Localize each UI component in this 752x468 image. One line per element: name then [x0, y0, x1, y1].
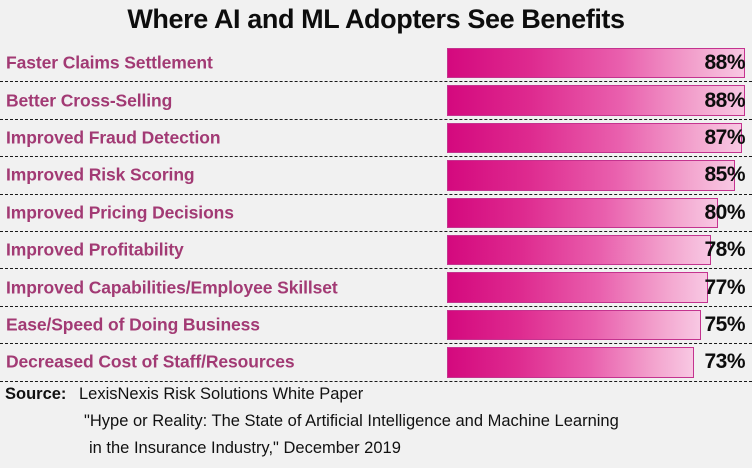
- bar-track: 88%: [447, 48, 745, 78]
- bar-value-label: 75%: [704, 313, 745, 337]
- bar-row: Improved Profitability78%: [0, 232, 752, 269]
- bar-row: Decreased Cost of Staff/Resources73%: [0, 344, 752, 381]
- category-label: Improved Capabilities/Employee Skillset: [6, 277, 338, 298]
- source-line-2: "Hype or Reality: The State of Artificia…: [84, 412, 619, 431]
- chart-title: Where AI and ML Adopters See Benefits: [0, 4, 752, 35]
- bar-value-label: 73%: [704, 350, 745, 374]
- category-label: Better Cross-Selling: [6, 90, 172, 111]
- bar-track: 88%: [447, 85, 745, 115]
- bar-value-label: 87%: [704, 126, 745, 150]
- source-line-1: LexisNexis Risk Solutions White Paper: [79, 385, 363, 404]
- bar-value-label: 88%: [704, 51, 745, 75]
- category-label: Improved Pricing Decisions: [6, 202, 234, 223]
- bar-row: Improved Pricing Decisions80%: [0, 195, 752, 232]
- bar-fill: [447, 310, 701, 340]
- bar-track: 77%: [447, 272, 745, 302]
- bar-fill: [447, 123, 742, 153]
- bar-row: Improved Fraud Detection87%: [0, 120, 752, 157]
- bar-track: 85%: [447, 160, 745, 190]
- category-label: Improved Risk Scoring: [6, 165, 195, 186]
- chart-container: Where AI and ML Adopters See Benefits Fa…: [0, 0, 752, 468]
- category-label: Improved Fraud Detection: [6, 127, 220, 148]
- bar-fill: [447, 160, 735, 190]
- bar-fill: [447, 48, 745, 78]
- bar-track: 73%: [447, 347, 745, 377]
- bar-value-label: 85%: [704, 163, 745, 187]
- bar-row: Improved Capabilities/Employee Skillset7…: [0, 269, 752, 306]
- bar-value-label: 88%: [704, 89, 745, 113]
- bar-value-label: 78%: [704, 238, 745, 262]
- bar-value-label: 77%: [704, 276, 745, 300]
- bar-track: 75%: [447, 310, 745, 340]
- source-line-3: in the Insurance Industry," December 201…: [89, 439, 401, 458]
- bar-row: Improved Risk Scoring85%: [0, 157, 752, 194]
- category-label: Improved Profitability: [6, 240, 184, 261]
- source-note: Source: LexisNexis Risk Solutions White …: [0, 384, 752, 468]
- bar-fill: [447, 347, 694, 377]
- bar-track: 87%: [447, 123, 745, 153]
- category-label: Ease/Speed of Doing Business: [6, 314, 260, 335]
- bar-fill: [447, 272, 708, 302]
- bar-track: 78%: [447, 235, 745, 265]
- category-label: Decreased Cost of Staff/Resources: [6, 352, 294, 373]
- bar-row: Better Cross-Selling88%: [0, 82, 752, 119]
- bar-row: Ease/Speed of Doing Business75%: [0, 307, 752, 344]
- source-label: Source:: [5, 385, 66, 404]
- bar-row: Faster Claims Settlement88%: [0, 45, 752, 82]
- bar-track: 80%: [447, 198, 745, 228]
- bar-value-label: 80%: [704, 201, 745, 225]
- category-label: Faster Claims Settlement: [6, 53, 213, 74]
- bar-fill: [447, 198, 718, 228]
- bar-chart-plot-area: Faster Claims Settlement88%Better Cross-…: [0, 45, 752, 382]
- bar-fill: [447, 235, 711, 265]
- bar-fill: [447, 85, 745, 115]
